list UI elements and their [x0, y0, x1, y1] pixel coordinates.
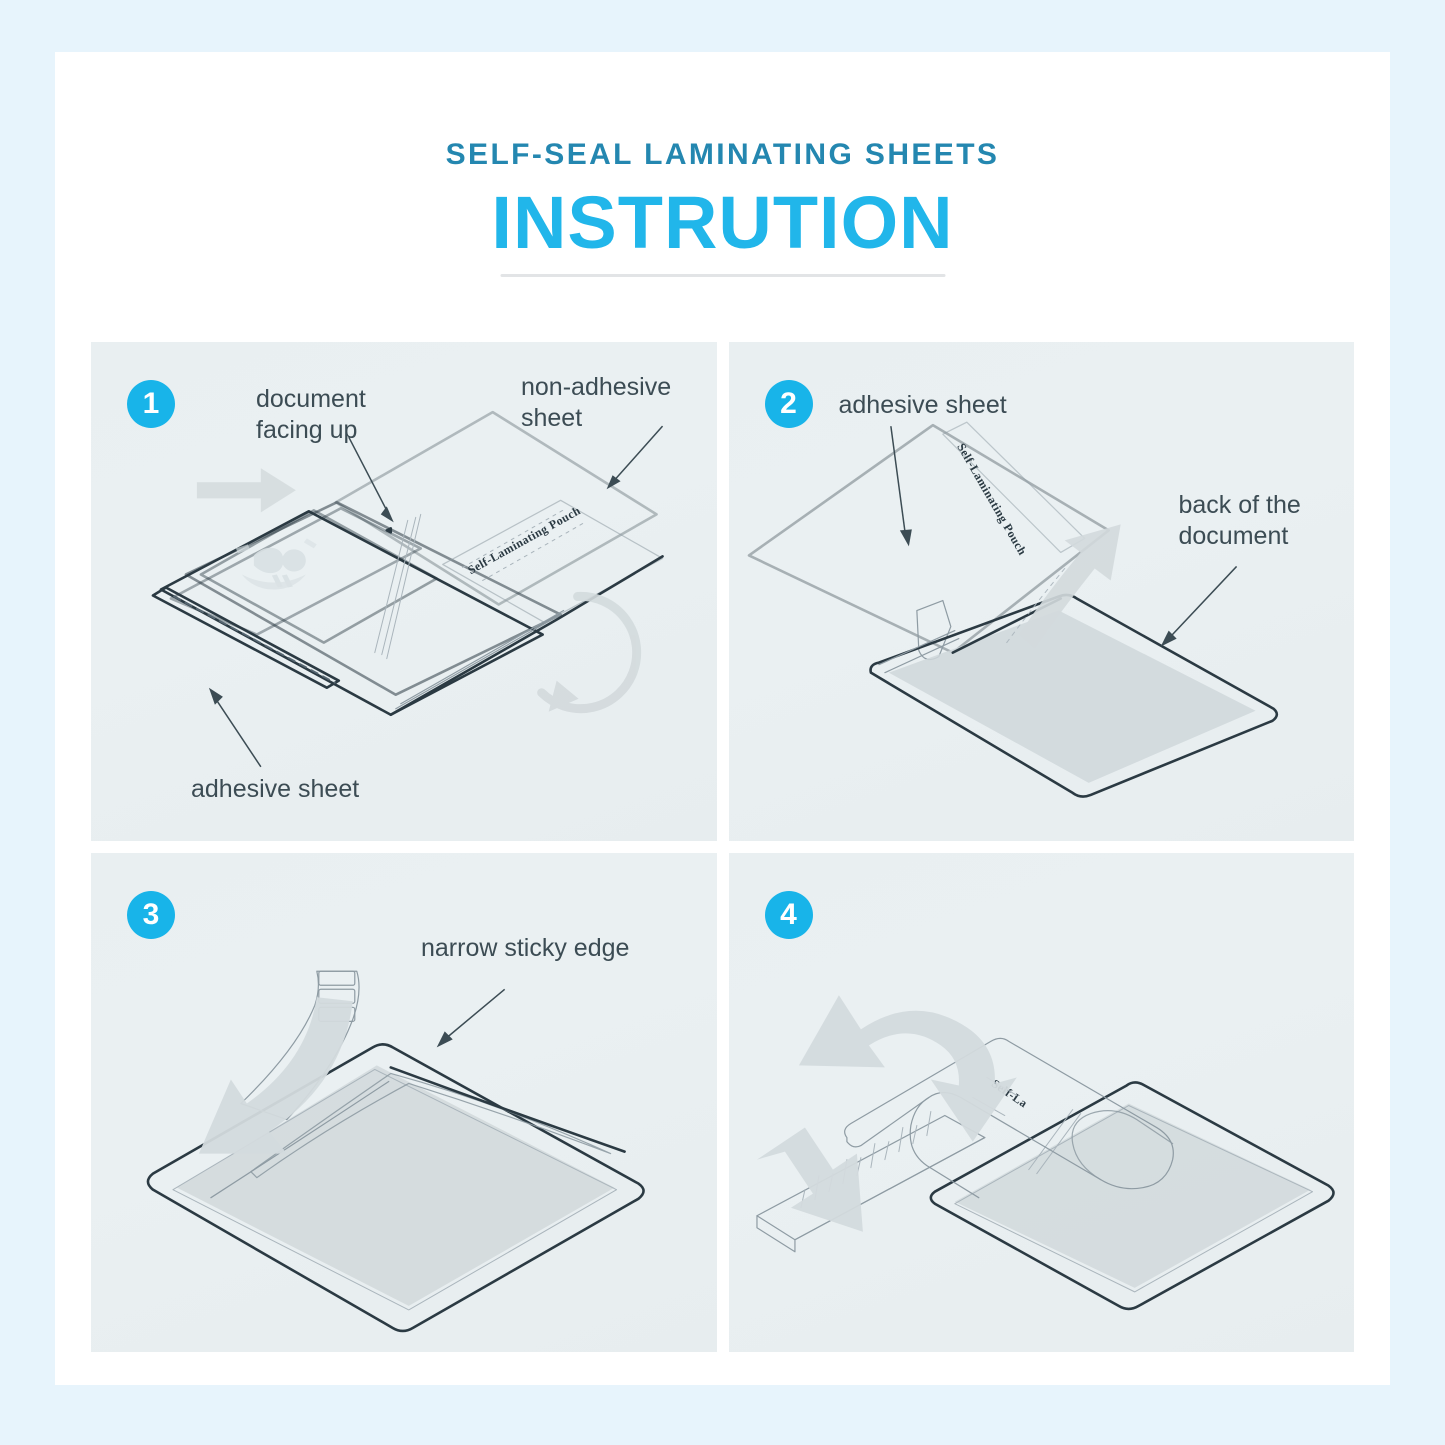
callout-arrow-adhesive: [209, 688, 261, 767]
pouch-print-band-2: Self-Laminating Pouch: [942, 422, 1084, 557]
step-badge-2: 2: [765, 380, 813, 428]
illustration-step-3: [91, 853, 717, 1352]
page-title: INSTRUTION: [55, 182, 1390, 264]
eyebrow-title: SELF-SEAL LAMINATING SHEETS: [55, 138, 1390, 172]
document-watermark-icon: [236, 538, 317, 589]
press-arrow-icon: [756, 1128, 862, 1232]
title-divider: [500, 274, 945, 277]
roll-arrow-icon: [798, 995, 1016, 1141]
step-panel-2[interactable]: 2 adhesive sheet back of the document Se…: [729, 342, 1355, 841]
callout-arrow-sticky-edge: [437, 989, 505, 1047]
step-badge-4: 4: [765, 891, 813, 939]
adhesive-dashed-edge: [174, 597, 335, 683]
label-adhesive-sheet: adhesive sheet: [191, 774, 471, 805]
label-adhesive-sheet: adhesive sheet: [839, 390, 1099, 421]
callout-arrow-document: [349, 437, 394, 522]
illustration-step-4: Self-La: [729, 853, 1355, 1352]
document-back-sheet: [870, 595, 1276, 797]
header: SELF-SEAL LAMINATING SHEETS INSTRUTION: [55, 52, 1390, 290]
label-non-adhesive-sheet: non-adhesive sheet: [521, 372, 717, 434]
rotation-arrow-icon: [542, 596, 637, 711]
instruction-card: SELF-SEAL LAMINATING SHEETS INSTRUTION 1…: [55, 52, 1390, 1385]
callout-arrow-non-adhesive: [607, 426, 663, 489]
pouch-brand-text-2: Self-Laminating Pouch: [954, 441, 1029, 558]
label-back-of-document: back of the document: [1179, 490, 1355, 552]
step-panel-4[interactable]: 4 Self-La: [729, 853, 1355, 1352]
label-document-facing-up: document facing up: [256, 384, 476, 446]
closed-pouch: [148, 1044, 644, 1331]
label-narrow-sticky-edge: narrow sticky edge: [421, 933, 717, 964]
step-panel-1[interactable]: 1 document facing up non-adhesive sheet …: [91, 342, 717, 841]
callout-arrow-back-document: [1160, 566, 1236, 646]
step-badge-1: 1: [127, 380, 175, 428]
pouch-print-band: Self-Laminating Pouch: [443, 500, 663, 622]
step-badge-3: 3: [127, 891, 175, 939]
steps-grid: 1 document facing up non-adhesive sheet …: [91, 342, 1354, 1352]
callout-arrow-adhesive-2: [890, 426, 911, 546]
step-panel-3[interactable]: 3 narrow sticky edge: [91, 853, 717, 1352]
